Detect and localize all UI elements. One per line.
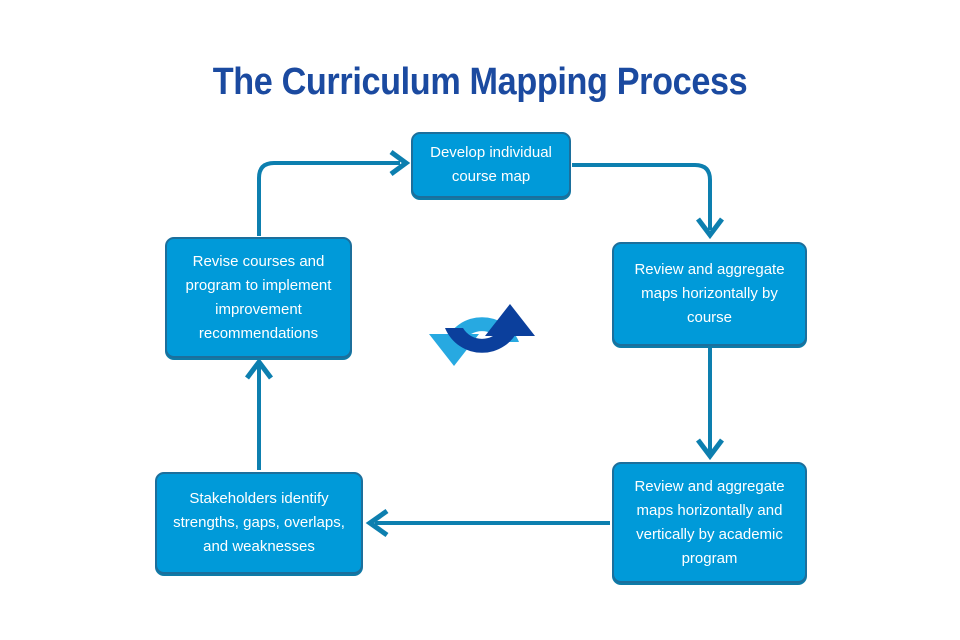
page-title: The Curriculum Mapping Process — [48, 59, 912, 105]
node-develop-label: Develop individual course map — [421, 141, 561, 189]
node-review-horizontal-vertical-label: Review and aggregate maps horizontally a… — [622, 475, 797, 571]
node-develop-individual-course-map[interactable]: Develop individual course map — [411, 132, 571, 198]
node-review-horizontal-label: Review and aggregate maps horizontally b… — [622, 258, 797, 330]
node-revise-courses-and-program[interactable]: Revise courses and program to implement … — [165, 237, 352, 358]
node-stakeholders-label: Stakeholders identify strengths, gaps, o… — [165, 487, 353, 559]
node-revise-label: Revise courses and program to implement … — [175, 250, 342, 346]
node-review-aggregate-by-course[interactable]: Review and aggregate maps horizontally b… — [612, 242, 807, 346]
connector-review-horizontal-to-review-hv — [698, 348, 722, 456]
node-stakeholders-identify[interactable]: Stakeholders identify strengths, gaps, o… — [155, 472, 363, 574]
connector-review-hv-to-stakeholders — [370, 511, 610, 535]
connector-develop-to-review-horizontal — [572, 165, 722, 235]
node-review-aggregate-by-program[interactable]: Review and aggregate maps horizontally a… — [612, 462, 807, 583]
connector-stakeholders-to-revise — [247, 362, 271, 470]
refresh-cycle-icon — [420, 278, 544, 388]
diagram-canvas: The Curriculum Mapping Process — [0, 0, 960, 640]
connector-revise-to-develop — [259, 152, 406, 236]
